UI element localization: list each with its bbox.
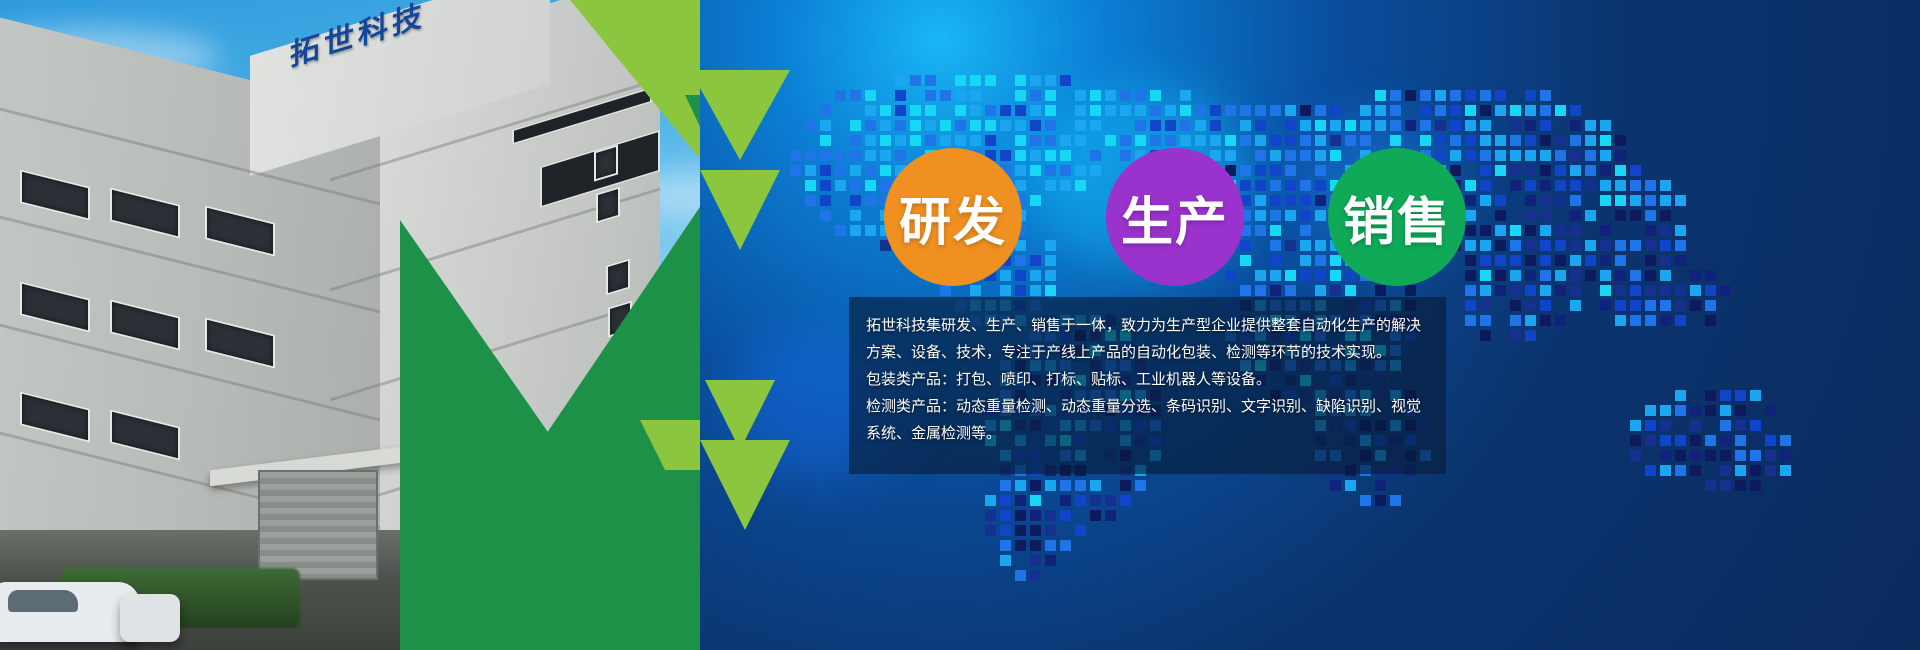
accent-triangles <box>640 0 840 650</box>
circle-badge-sales[interactable]: 销售 <box>1328 148 1466 286</box>
car-window <box>8 590 78 612</box>
triangle-light-green <box>700 440 790 530</box>
parked-car <box>0 582 140 642</box>
company-banner: 拓世科技 研发 生产 销售 拓世科技集研发、生产、销售于一体，致力为生产型企业提… <box>0 0 1920 650</box>
description-line: 系统、金属检测等。 <box>866 420 1466 447</box>
description-text: 拓世科技集研发、生产、销售于一体，致力为生产型企业提供整套自动化生产的解决 方案… <box>866 312 1466 447</box>
triangle-light-green <box>690 70 790 160</box>
parked-car <box>120 594 180 642</box>
description-line: 方案、设备、技术，专注于产线上产品的自动化包装、检测等环节的技术实现。 <box>866 339 1466 366</box>
description-line: 检测类产品：动态重量检测、动态重量分选、条码识别、文字识别、缺陷识别、视觉 <box>866 393 1466 420</box>
circle-badge-rd[interactable]: 研发 <box>884 148 1022 286</box>
circle-badge-production[interactable]: 生产 <box>1106 148 1244 286</box>
roller-shutter-door <box>258 470 378 580</box>
description-line: 拓世科技集研发、生产、销售于一体，致力为生产型企业提供整套自动化生产的解决 <box>866 312 1466 339</box>
description-line: 包装类产品：打包、喷印、打标、贴标、工业机器人等设备。 <box>866 366 1466 393</box>
triangle-light-green <box>700 170 780 250</box>
triangle-light-green <box>705 380 775 450</box>
